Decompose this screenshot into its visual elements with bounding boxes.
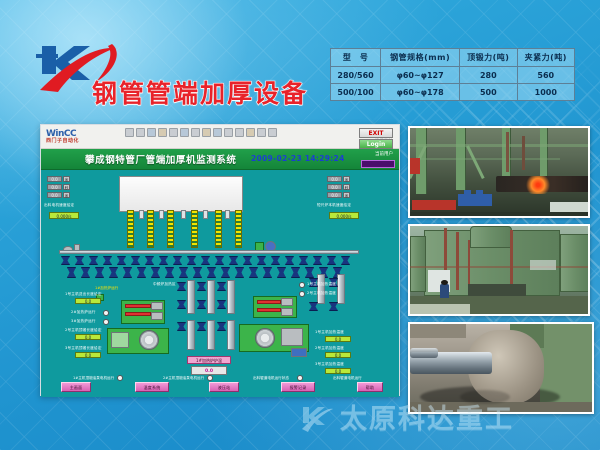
spec-cell: 1000 [517,84,574,101]
status-lamp [207,375,213,381]
run-icon[interactable] [246,128,255,137]
cylinder [207,280,215,314]
open-icon[interactable] [136,128,145,137]
hmi-banner: 攀成钢特管厂管端加厚机监测系统 2009-02-23 14:29:24 当前用户… [41,149,399,170]
clamp-icon [217,322,226,331]
right-value-row: 0.0 米 [327,192,350,198]
spec-cell: φ60~φ178 [381,84,460,101]
readout-value[interactable]: 0.0 [325,368,351,374]
grid-icon[interactable] [235,128,244,137]
lamp-caption: 1号主机加热温度 [307,282,336,287]
hydraulic-bar [125,312,151,316]
clamp-icon [217,300,226,309]
conveyor-line [59,250,359,254]
print-icon[interactable] [158,128,167,137]
hmi-screenshot: WinCC 西门子自动化 运行系统 攀成钢特管厂管端加厚机监测系统 2009-0… [40,124,400,396]
watermark-text: 太原科达重工 [340,397,514,436]
clamp-icon [197,322,206,331]
furnace-hook [139,210,144,219]
spec-cell: 500/100 [331,84,381,101]
bottom-caption: 出料辊道电机运行 [333,376,362,381]
help-icon[interactable] [268,128,277,137]
hmi-session-buttons: EXIT Login [359,128,395,150]
table-row: 500/100 φ60~φ178 500 1000 [331,84,575,101]
hydraulic-bar [257,300,281,304]
page-title: 钢管管端加厚设备 [92,74,308,110]
clamp-icon [177,322,186,331]
center-section-label: 中频炉加热区 [153,282,176,287]
motor-block [291,348,307,357]
nav-button-temp[interactable]: 温度系统 [135,382,169,392]
furnace-temp-value[interactable]: 0.0 [191,366,227,375]
hydraulic-bar [257,308,281,312]
readout-value[interactable]: 0.0 [75,352,101,358]
spec-cell: 280 [460,67,517,84]
furnace-column [127,210,134,248]
hmi-datetime: 2009-02-23 14:29:24 [251,154,345,163]
furnace-temp-label: 1#加热炉炉温 [187,356,231,364]
spec-table-header-row: 型 号 钢管规格(mm) 顶锻力(吨) 夹紧力(吨) [331,49,575,67]
left-value-row: 0.0 米 [47,176,70,182]
status-lamp [299,282,305,288]
clamp-head [151,302,163,310]
watermark: 太原科达重工 [300,392,600,440]
spec-header-upset: 顶锻力(吨) [460,49,517,67]
spec-table: 型 号 钢管规格(mm) 顶锻力(吨) 夹紧力(吨) 280/560 φ60~φ… [330,48,575,101]
clamp-icon [197,300,206,309]
clamp-icon [217,282,226,291]
nav-button-alarm[interactable]: 报警记录 [281,382,315,392]
clamp-head [151,312,163,320]
hmi-process-canvas[interactable]: 0.0 米 0.0 秒 0.0 米 出料电机速度给定 0.000/s 0.0 米… [41,170,399,397]
exit-button[interactable]: EXIT [359,128,393,138]
gear-icon [255,328,275,348]
cylinder [187,320,195,350]
photo-factory-hotpipe [408,126,590,218]
sensor-caption: 1#加热炉运行 [95,286,118,291]
photo-press-machine [408,224,590,316]
cylinder [317,274,325,304]
nav-button-help[interactable]: 帮助 [357,382,383,392]
clamp-icon [329,302,338,311]
poster-page: 钢管管端加厚设备 型 号 钢管规格(mm) 顶锻力(吨) 夹紧力(吨) 280/… [0,0,600,450]
left-speed-field[interactable]: 0.000/s [49,212,79,219]
paste-icon[interactable] [191,128,200,137]
stop-icon[interactable] [257,128,266,137]
furnace-column [147,210,154,248]
panel-right [281,328,303,346]
bottom-caption: 2#主机顶锻油泵电机运行 [163,376,204,381]
wincc-logo: WinCC 西门子自动化 [46,130,79,144]
furnace-column [191,210,198,248]
cylinder [227,280,235,314]
bottom-caption: 出料辊道电机运行状态 [253,376,289,381]
spec-cell: 280/560 [331,67,381,84]
hmi-user-label: 当前用户 [375,151,393,157]
hmi-toolbar: WinCC 西门子自动化 运行系统 [41,125,399,149]
lamp-caption: 2#加热炉运行 [71,310,96,315]
right-panel-caption: 短尺炉本机速度给定 [317,203,351,208]
clamp-head [281,298,293,306]
furnace-hook [203,210,208,219]
new-icon[interactable] [125,128,134,137]
readout-label: 3号主机顶锻长度给定 [65,346,102,351]
panel-left [111,332,129,348]
cylinder [337,274,345,304]
left-value-row: 0.0 米 [47,192,70,198]
furnace-hook [159,210,164,219]
spec-header-clamp: 夹紧力(吨) [517,49,574,67]
status-lamp [103,310,109,316]
poster-header: 钢管管端加厚设备 [0,28,340,94]
lamp-caption: 2号主机加热温度 [307,291,336,296]
left-value-row: 0.0 秒 [47,184,70,190]
login-button[interactable]: Login [359,139,393,149]
right-value-row: 0.0 米 [327,176,350,182]
spec-header-size: 钢管规格(mm) [381,49,460,67]
clamp-head [281,308,293,316]
right-speed-field[interactable]: 0.000/s [329,212,359,219]
gear-icon [139,330,159,350]
cylinder [227,320,235,350]
status-lamp [103,319,109,325]
bottom-caption: 1#主机顶锻油泵电机运行 [73,376,114,381]
furnace-column [235,210,242,248]
hydraulic-bar [125,304,151,308]
readout-label: 1号主机加热温度 [315,330,344,335]
readout-label: 2号主机加热温度 [315,346,344,351]
readout-value[interactable]: 0.0 [75,298,101,304]
toolbar-icon-group[interactable] [125,128,277,137]
readout-label: 3号主机加热温度 [315,362,344,367]
spec-cell: 560 [517,67,574,84]
cylinder [207,320,215,350]
save-icon[interactable] [147,128,156,137]
copy-icon[interactable] [180,128,189,137]
clamp-icon [309,302,318,311]
roller-row-lower [61,267,361,276]
readout-value[interactable]: 0.0 [325,336,351,342]
zoom-icon[interactable] [224,128,233,137]
current-user-field[interactable] [361,160,395,168]
cylinder [187,280,195,314]
left-panel-caption: 出料电机速度给定 [44,203,74,208]
cut-icon[interactable] [169,128,178,137]
furnace-hook [181,210,186,219]
nav-button-main[interactable]: 主画面 [61,382,91,392]
readout-value[interactable]: 0.0 [325,352,351,358]
lamp-caption: 3#加热炉运行 [71,319,96,324]
clamp-icon [177,282,186,291]
redo-icon[interactable] [213,128,222,137]
nav-button-hydraulic[interactable]: 液压站 [209,382,239,392]
readout-value[interactable]: 0.0 [75,334,101,340]
undo-icon[interactable] [202,128,211,137]
readout-label: 1号主机送出长度给定 [65,292,102,297]
roller-row-upper [61,256,361,265]
hmi-title: 攀成钢特管厂管端加厚机监测系统 [85,152,237,166]
readout-label: 2号主机顶锻长度给定 [65,328,102,333]
clamp-icon [197,282,206,291]
right-value-row: 0.0 秒 [327,184,350,190]
furnace-body [119,176,243,212]
status-lamp [297,375,303,381]
status-lamp [299,291,305,297]
spec-cell: φ60~φ127 [381,67,460,84]
spec-cell: 500 [460,84,517,101]
table-row: 280/560 φ60~φ127 280 560 [331,67,575,84]
kd-logo-icon [300,399,334,433]
status-lamp [117,375,123,381]
furnace-column [167,210,174,248]
furnace-column [215,210,222,248]
clamp-icon [177,300,186,309]
furnace-hook [225,210,230,219]
spec-header-model: 型 号 [331,49,381,67]
